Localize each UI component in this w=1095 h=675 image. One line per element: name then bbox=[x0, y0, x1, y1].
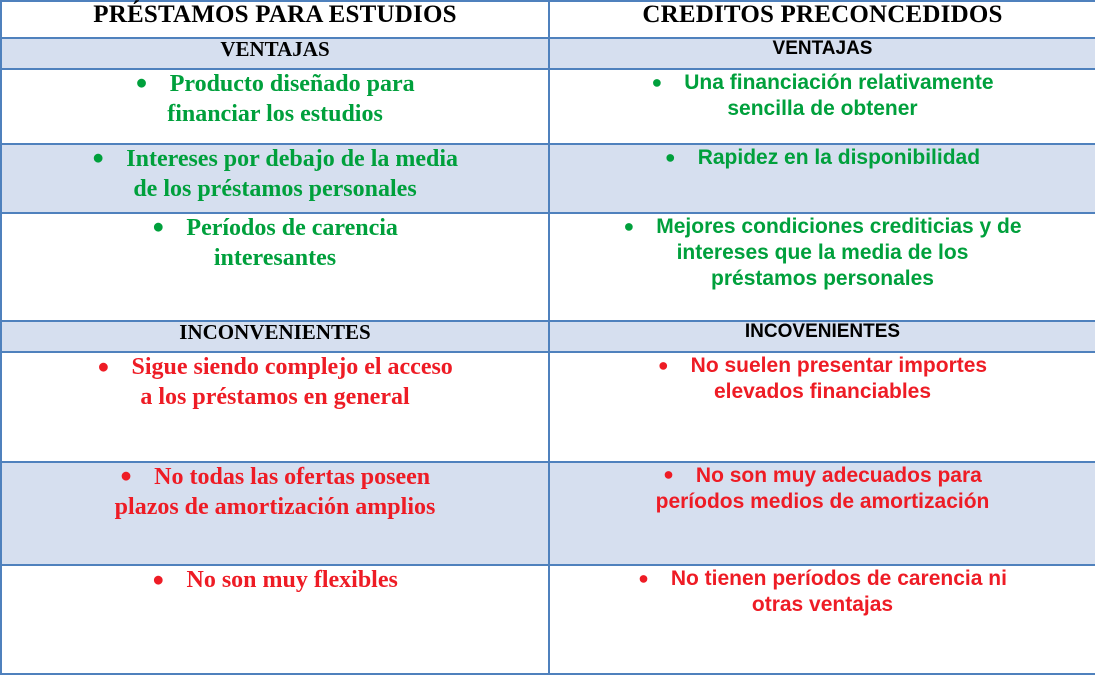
bullet-text: Una financiación relativamente bbox=[684, 71, 993, 94]
comparison-table: PRÉSTAMOS PARA ESTUDIOS CREDITOS PRECONC… bbox=[0, 0, 1095, 675]
column-header-prestamos: PRÉSTAMOS PARA ESTUDIOS bbox=[1, 1, 549, 38]
section-band-inconvenientes-left-label: INCONVENIENTES bbox=[2, 322, 548, 343]
bullet-icon: ● bbox=[651, 71, 662, 93]
bullet-item-continuation: intereses que la media de los bbox=[550, 240, 1095, 266]
bullet-text: Mejores condiciones crediticias y de bbox=[656, 215, 1021, 238]
cell-inconvenientes-left-3: ●No son muy flexibles bbox=[1, 565, 549, 674]
bullet-text: No tienen períodos de carencia ni bbox=[671, 567, 1007, 590]
bullet-item-continuation: sencilla de obtener bbox=[550, 96, 1095, 122]
bullet-icon: ● bbox=[658, 354, 669, 376]
cell-ventajas-right-2: ●Rapidez en la disponibilidad bbox=[549, 144, 1095, 213]
bullet-text: Rapidez en la disponibilidad bbox=[698, 146, 980, 169]
bullet-item: ●Intereses por debajo de la media bbox=[2, 145, 548, 175]
table-header-row: PRÉSTAMOS PARA ESTUDIOS CREDITOS PRECONC… bbox=[1, 1, 1095, 38]
bullet-item: ●No tienen períodos de carencia ni bbox=[550, 566, 1095, 592]
bullet-item: ●Sigue siendo complejo el acceso bbox=[2, 353, 548, 383]
bullet-icon: ● bbox=[120, 464, 132, 489]
column-header-creditos: CREDITOS PRECONCEDIDOS bbox=[549, 1, 1095, 38]
bullet-icon: ● bbox=[638, 567, 649, 589]
bullet-item: ●No todas las ofertas poseen bbox=[2, 463, 548, 493]
column-header-creditos-label: CREDITOS PRECONCEDIDOS bbox=[550, 2, 1095, 27]
bullet-item: ●Rapidez en la disponibilidad bbox=[550, 145, 1095, 171]
section-band-inconvenientes-left: INCONVENIENTES bbox=[1, 321, 549, 352]
section-band-ventajas-left-label: VENTAJAS bbox=[2, 39, 548, 60]
bullet-text: No suelen presentar importes bbox=[691, 354, 987, 377]
bullet-icon: ● bbox=[663, 463, 674, 485]
bullet-item-continuation: préstamos personales bbox=[550, 266, 1095, 292]
section-band-ventajas-right-label: VENTAJAS bbox=[550, 39, 1095, 58]
section-band-inconvenientes-right-label: INCOVENIENTES bbox=[550, 322, 1095, 341]
bullet-icon: ● bbox=[135, 71, 147, 96]
bullet-text: No son muy adecuados para bbox=[696, 464, 982, 487]
bullet-item: ●Mejores condiciones crediticias y de bbox=[550, 214, 1095, 240]
cell-inconvenientes-right-1: ●No suelen presentar importes elevados f… bbox=[549, 352, 1095, 462]
bullet-text: Sigue siendo complejo el acceso bbox=[132, 354, 453, 380]
table-row: ●Períodos de carencia interesantes ●Mejo… bbox=[1, 213, 1095, 321]
bullet-item: ●Producto diseñado para bbox=[2, 70, 548, 100]
table-row: ●Producto diseñado para financiar los es… bbox=[1, 69, 1095, 144]
cell-inconvenientes-right-3: ●No tienen períodos de carencia ni otras… bbox=[549, 565, 1095, 674]
cell-ventajas-right-1: ●Una financiación relativamente sencilla… bbox=[549, 69, 1095, 144]
bullet-item-continuation: plazos de amortización amplios bbox=[2, 493, 548, 523]
cell-inconvenientes-left-2: ●No todas las ofertas poseen plazos de a… bbox=[1, 462, 549, 566]
bullet-icon: ● bbox=[92, 146, 104, 171]
bullet-text: Períodos de carencia bbox=[186, 215, 398, 241]
bullet-item-continuation: períodos medios de amortización bbox=[550, 489, 1095, 515]
bullet-item: ●Períodos de carencia bbox=[2, 214, 548, 244]
bullet-text: No son muy flexibles bbox=[186, 567, 397, 593]
bullet-icon: ● bbox=[665, 146, 676, 168]
bullet-text: Intereses por debajo de la media bbox=[126, 146, 458, 172]
bullet-item-continuation: financiar los estudios bbox=[2, 100, 548, 130]
bullet-item: ●No son muy adecuados para bbox=[550, 463, 1095, 489]
bullet-text: Producto diseñado para bbox=[170, 71, 415, 97]
bullet-item: ●No suelen presentar importes bbox=[550, 353, 1095, 379]
bullet-item-continuation: interesantes bbox=[2, 244, 548, 274]
cell-inconvenientes-left-1: ●Sigue siendo complejo el acceso a los p… bbox=[1, 352, 549, 462]
bullet-text: No todas las ofertas poseen bbox=[154, 464, 430, 490]
bullet-icon: ● bbox=[97, 355, 109, 380]
table-row: ●Sigue siendo complejo el acceso a los p… bbox=[1, 352, 1095, 462]
bullet-item-continuation: otras ventajas bbox=[550, 592, 1095, 618]
bullet-icon: ● bbox=[152, 215, 164, 240]
column-header-prestamos-label: PRÉSTAMOS PARA ESTUDIOS bbox=[2, 2, 548, 27]
cell-ventajas-left-1: ●Producto diseñado para financiar los es… bbox=[1, 69, 549, 144]
section-band-ventajas: VENTAJAS VENTAJAS bbox=[1, 38, 1095, 69]
bullet-item: ●Una financiación relativamente bbox=[550, 70, 1095, 96]
table-row: ●No son muy flexibles ●No tienen período… bbox=[1, 565, 1095, 674]
bullet-icon: ● bbox=[623, 215, 634, 237]
table-row: ●Intereses por debajo de la media de los… bbox=[1, 144, 1095, 213]
table-row: ●No todas las ofertas poseen plazos de a… bbox=[1, 462, 1095, 566]
bullet-icon: ● bbox=[152, 568, 164, 593]
bullet-item-continuation: elevados financiables bbox=[550, 379, 1095, 405]
cell-ventajas-right-3: ●Mejores condiciones crediticias y de in… bbox=[549, 213, 1095, 321]
cell-ventajas-left-3: ●Períodos de carencia interesantes bbox=[1, 213, 549, 321]
section-band-inconvenientes-right: INCOVENIENTES bbox=[549, 321, 1095, 352]
cell-inconvenientes-right-2: ●No son muy adecuados para períodos medi… bbox=[549, 462, 1095, 566]
bullet-item-continuation: a los préstamos en general bbox=[2, 383, 548, 413]
section-band-inconvenientes: INCONVENIENTES INCOVENIENTES bbox=[1, 321, 1095, 352]
section-band-ventajas-right: VENTAJAS bbox=[549, 38, 1095, 69]
bullet-item-continuation: de los préstamos personales bbox=[2, 175, 548, 205]
bullet-item: ●No son muy flexibles bbox=[2, 566, 548, 596]
section-band-ventajas-left: VENTAJAS bbox=[1, 38, 549, 69]
cell-ventajas-left-2: ●Intereses por debajo de la media de los… bbox=[1, 144, 549, 213]
